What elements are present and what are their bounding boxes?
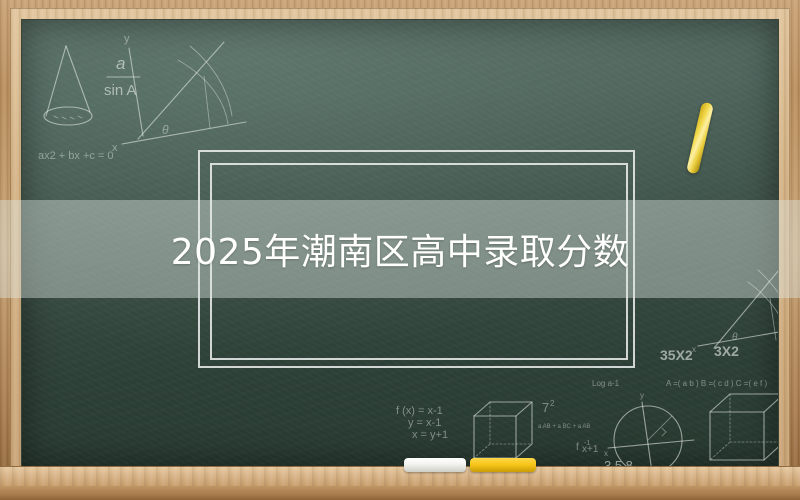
svg-text:y: y <box>640 391 644 400</box>
svg-text:x = y+1: x = y+1 <box>412 429 448 441</box>
svg-text:x+1: x+1 <box>582 444 599 455</box>
svg-text:3X2: 3X2 <box>714 343 739 359</box>
svg-text:a: a <box>116 54 125 73</box>
svg-text:θ: θ <box>732 332 738 343</box>
chalk-ledge-lip <box>0 486 800 500</box>
svg-text:f (x) = x-1: f (x) = x-1 <box>396 405 443 417</box>
svg-text:Log a-1: Log a-1 <box>592 379 620 388</box>
svg-text:a AB + a BC + a AB: a AB + a BC + a AB <box>538 424 590 430</box>
svg-text:A =( a b ) B =( c d ) C =( e: A =( a b ) B =( c d ) C =( e f ) <box>666 379 767 388</box>
svg-text:3 5 8: 3 5 8 <box>604 458 633 466</box>
svg-text:7: 7 <box>542 400 549 415</box>
picture-frame: a sin A y x θ ax2 + bx +c = 0 <box>0 0 800 500</box>
svg-text:sin A: sin A <box>104 82 137 99</box>
svg-text:35X2: 35X2 <box>660 347 693 363</box>
svg-text:y: y <box>124 33 130 45</box>
doodle-bottom-center-functions: f (x) = x-1 y = x-1 x = y+1 7 2 a AB + a… <box>390 388 610 466</box>
yellow-chalk-icon <box>470 458 536 472</box>
tilted-yellow-chalk-icon <box>686 102 714 175</box>
svg-text:y = x-1: y = x-1 <box>408 417 441 429</box>
title-overlay-band: 2025年潮南区高中录取分数 <box>0 200 800 298</box>
svg-text:-1: -1 <box>584 440 590 447</box>
svg-text:θ: θ <box>162 123 169 137</box>
page-title: 2025年潮南区高中录取分数 <box>171 223 630 275</box>
svg-text:x: x <box>604 449 608 458</box>
svg-text:ax2 + bx +c = 0: ax2 + bx +c = 0 <box>38 150 114 162</box>
svg-text:x: x <box>112 142 118 154</box>
white-chalk-icon <box>404 458 466 472</box>
svg-text:2: 2 <box>550 399 555 408</box>
svg-text:f: f <box>576 442 579 453</box>
svg-text:x: x <box>692 345 696 354</box>
